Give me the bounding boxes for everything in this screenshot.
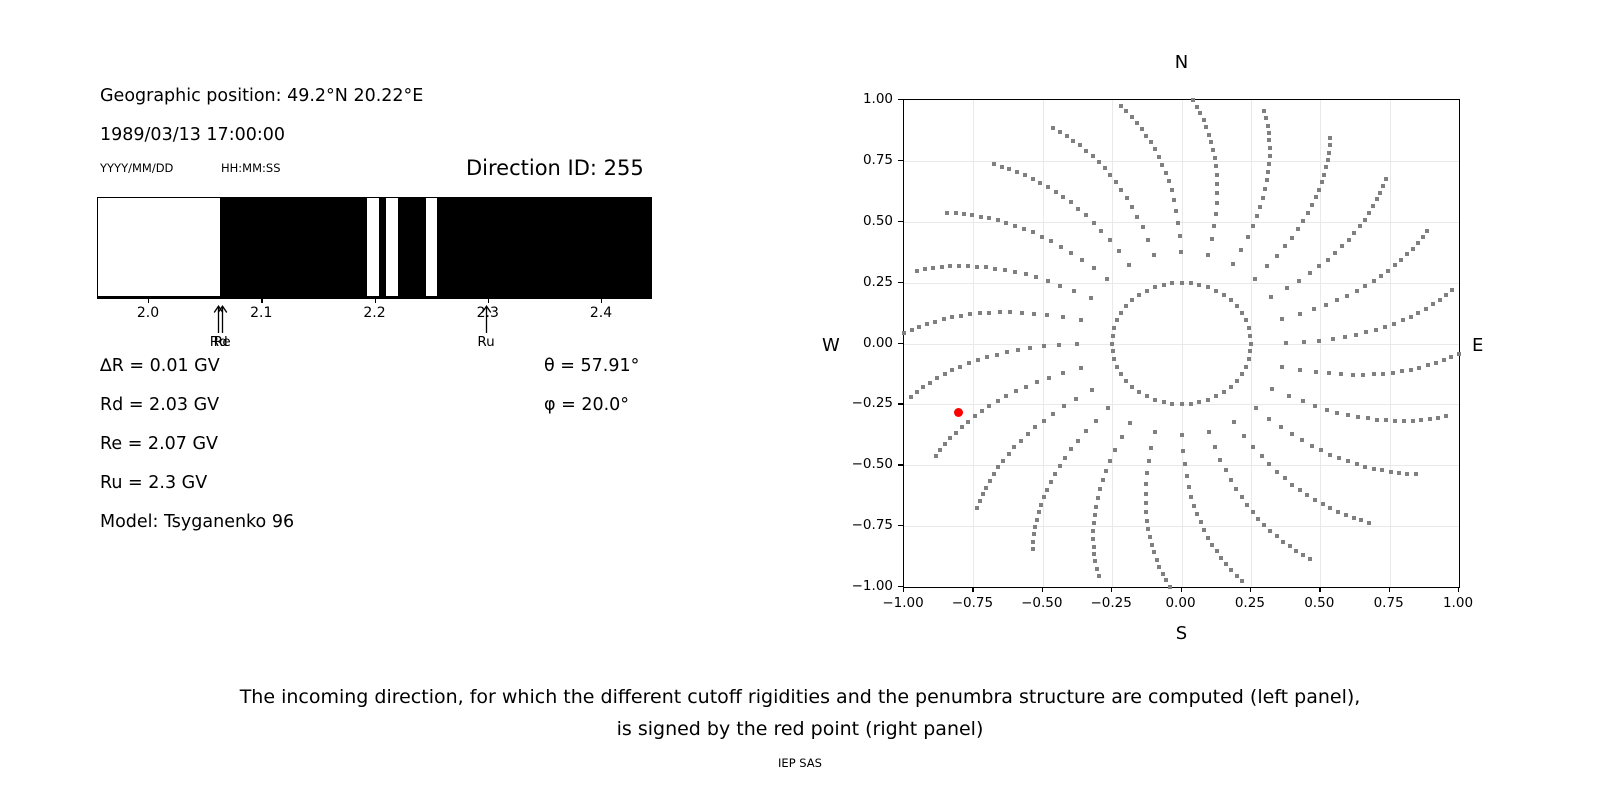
parameter-row: Model: Tsyganenko 96 <box>100 512 294 532</box>
x-axis-tick-mark <box>1111 587 1112 592</box>
x-axis-tick-label: −1.00 <box>882 595 923 611</box>
parameter-row: Rd = 2.03 GV <box>100 395 219 415</box>
parameter-row: ∆R = 0.01 GV <box>100 356 220 376</box>
x-axis-tick-label: 0.25 <box>1235 595 1265 611</box>
penumbra-marker-label: Re <box>202 334 242 350</box>
x-axis-tick-label: −0.50 <box>1021 595 1062 611</box>
geographic-position-text: Geographic position: 49.2°N 20.22°E <box>100 86 423 106</box>
x-axis-ticks: −1.00−0.75−0.50−0.250.000.250.500.751.00 <box>820 40 1560 660</box>
x-axis-tick-mark <box>1389 587 1390 592</box>
penumbra-forbidden-band <box>437 198 652 296</box>
parameter-row: Ru = 2.3 GV <box>100 473 207 493</box>
penumbra-marker-ru: Ru <box>466 303 506 350</box>
penumbra-forbidden-band <box>379 198 386 296</box>
penumbra-forbidden-band <box>398 198 426 296</box>
x-axis-tick-label: −0.75 <box>952 595 993 611</box>
x-axis-tick-mark <box>1458 587 1459 592</box>
penumbra-forbidden-band <box>220 198 367 296</box>
x-axis-tick-mark <box>972 587 973 592</box>
direction-id-text: Direction ID: 255 <box>466 156 644 180</box>
up-arrow-icon <box>216 303 229 333</box>
penumbra-bar <box>97 197 652 297</box>
right-panel: N W E S −1.00−0.75−0.50−0.250.000.250.50… <box>820 40 1560 660</box>
caption-line-1: The incoming direction, for which the di… <box>0 686 1600 708</box>
x-axis-tick-label: 1.00 <box>1443 595 1473 611</box>
x-axis-tick-label: 0.50 <box>1304 595 1334 611</box>
x-axis-tick-mark <box>1319 587 1320 592</box>
x-axis-tick-label: 0.75 <box>1374 595 1404 611</box>
x-axis-tick-mark <box>1181 587 1182 592</box>
caption-line-2: is signed by the red point (right panel) <box>0 718 1600 740</box>
parameter-row: Re = 2.07 GV <box>100 434 218 454</box>
penumbra-marker-label: Ru <box>466 334 506 350</box>
up-arrow-icon <box>480 303 493 333</box>
x-axis-tick-label: 0.00 <box>1165 595 1195 611</box>
parameter-row: θ = 57.91° <box>544 356 639 376</box>
x-axis-tick-mark <box>903 587 904 592</box>
parameter-row: φ = 20.0° <box>544 395 629 415</box>
x-axis-tick-mark <box>1042 587 1043 592</box>
left-panel: Geographic position: 49.2°N 20.22°E 1989… <box>0 0 720 640</box>
time-format-label: HH:MM:SS <box>221 161 281 175</box>
date-format-label: YYYY/MM/DD <box>100 161 173 175</box>
datetime-text: 1989/03/13 17:00:00 <box>100 125 285 145</box>
footer-text: IEP SAS <box>0 756 1600 770</box>
x-axis-tick-label: −0.25 <box>1090 595 1131 611</box>
penumbra-marker-re: Re <box>202 303 242 350</box>
penumbra-marker-arrows: RdReRu <box>97 303 652 363</box>
x-axis-tick-mark <box>1250 587 1251 592</box>
